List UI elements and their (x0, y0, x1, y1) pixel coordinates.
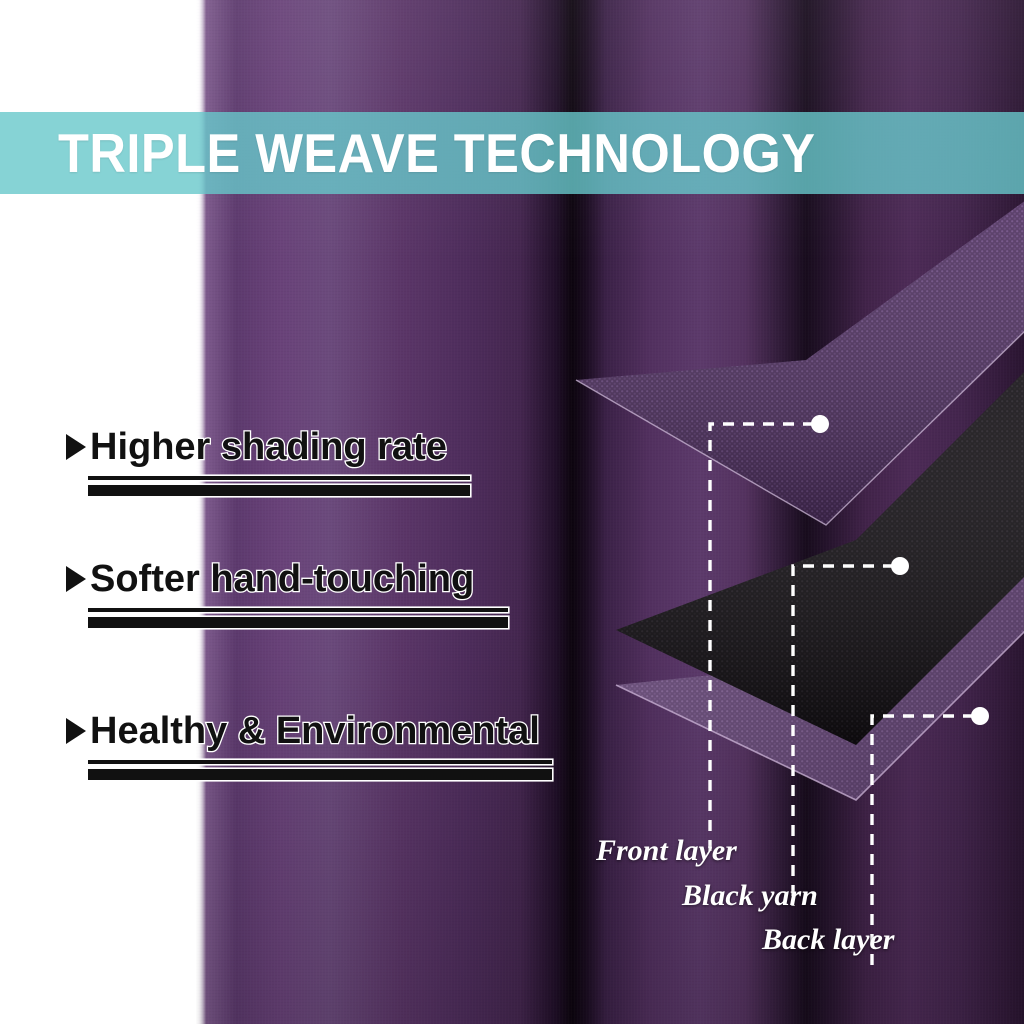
underline-thick-rule (88, 769, 552, 780)
callout-label-front-layer: Front layer (596, 836, 737, 866)
feature-item-1: Higher shading rate (66, 428, 466, 496)
underline-thin-rule (88, 476, 470, 480)
callout-dot-back-layer (971, 707, 989, 725)
underline-thin-rule (88, 760, 552, 764)
fabric-layer-diagram (556, 330, 1024, 850)
feature-label-1: Higher shading rate (90, 428, 447, 466)
feature-underline-3 (88, 760, 552, 780)
feature-row: Higher shading rate (66, 428, 466, 466)
banner-title: TRIPLE WEAVE TECHNOLOGY (58, 126, 815, 181)
feature-item-3: Healthy & Environmental (66, 712, 556, 780)
feature-label-2: Softer hand-touching (90, 560, 474, 598)
callout-dot-front-layer (811, 415, 829, 433)
callout-label-black-yarn: Black yarn (682, 881, 818, 911)
feature-underline-1 (88, 476, 470, 496)
underline-thin-rule (88, 608, 508, 612)
callout-label-back-layer: Back layer (762, 925, 894, 955)
product-feature-image: TRIPLE WEAVE TECHNOLOGY Higher shading r… (0, 0, 1024, 1024)
triangle-bullet-icon (66, 718, 86, 744)
feature-label-3: Healthy & Environmental (90, 712, 540, 750)
feature-underline-2 (88, 608, 508, 628)
triangle-bullet-icon (66, 566, 86, 592)
underline-thick-rule (88, 617, 508, 628)
callout-dot-black-yarn (891, 557, 909, 575)
feature-row: Healthy & Environmental (66, 712, 556, 750)
feature-row: Softer hand-touching (66, 560, 506, 598)
underline-thick-rule (88, 485, 470, 496)
headline-banner: TRIPLE WEAVE TECHNOLOGY (0, 112, 1024, 194)
triangle-bullet-icon (66, 434, 86, 460)
feature-item-2: Softer hand-touching (66, 560, 506, 628)
